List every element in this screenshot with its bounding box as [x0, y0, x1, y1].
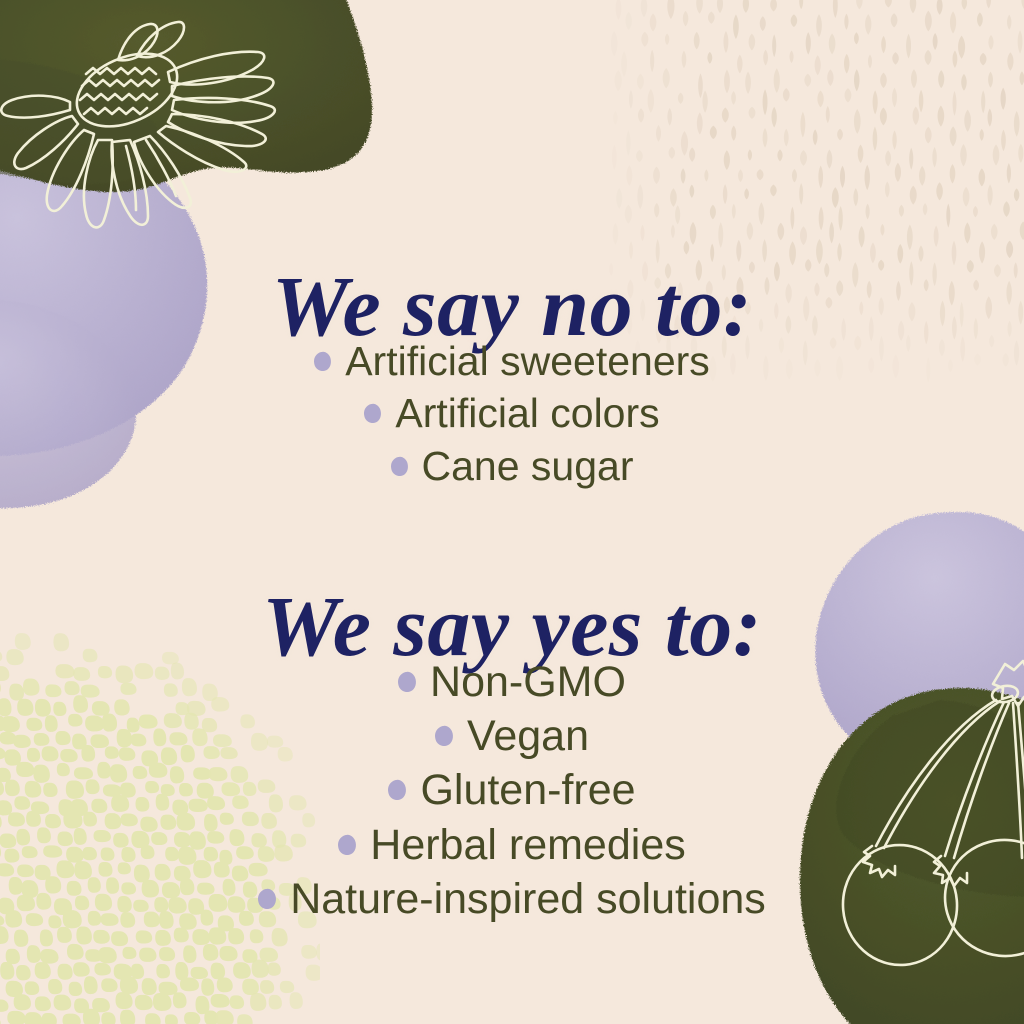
list-item: Nature-inspired solutions — [258, 872, 766, 926]
poster-content: We say no to: Artificial sweeteners Arti… — [0, 0, 1024, 1024]
bullet-dot-icon — [336, 833, 358, 856]
bullet-dot-icon — [389, 455, 410, 477]
list-item-label: Cane sugar — [422, 440, 634, 492]
bullet-dot-icon — [387, 779, 409, 802]
bullet-dot-icon — [256, 887, 278, 910]
poster-canvas: We say no to: Artificial sweeteners Arti… — [0, 0, 1024, 1024]
list-item: Vegan — [435, 709, 589, 763]
list-item: Artificial colors — [364, 387, 659, 439]
bullet-dot-icon — [363, 403, 384, 425]
list-item-label: Non-GMO — [430, 655, 626, 709]
list-item: Gluten-free — [388, 763, 635, 817]
list-item-label: Artificial sweeteners — [345, 335, 710, 387]
list-item: Cane sugar — [391, 440, 634, 492]
bullet-dot-icon — [396, 670, 418, 693]
list-say-yes: Non-GMO Vegan Gluten-free Herbal remedie… — [0, 655, 1024, 926]
list-item: Artificial sweeteners — [314, 335, 710, 387]
bullet-dot-icon — [433, 725, 455, 748]
list-say-no: Artificial sweeteners Artificial colors … — [0, 335, 1024, 492]
list-item: Herbal remedies — [338, 818, 685, 872]
list-item-label: Vegan — [467, 709, 589, 763]
list-item: Non-GMO — [398, 655, 626, 709]
bullet-dot-icon — [312, 350, 333, 372]
list-item-label: Artificial colors — [395, 387, 659, 439]
list-item-label: Herbal remedies — [370, 818, 685, 872]
list-item-label: Nature-inspired solutions — [290, 872, 766, 926]
list-item-label: Gluten-free — [420, 763, 635, 817]
